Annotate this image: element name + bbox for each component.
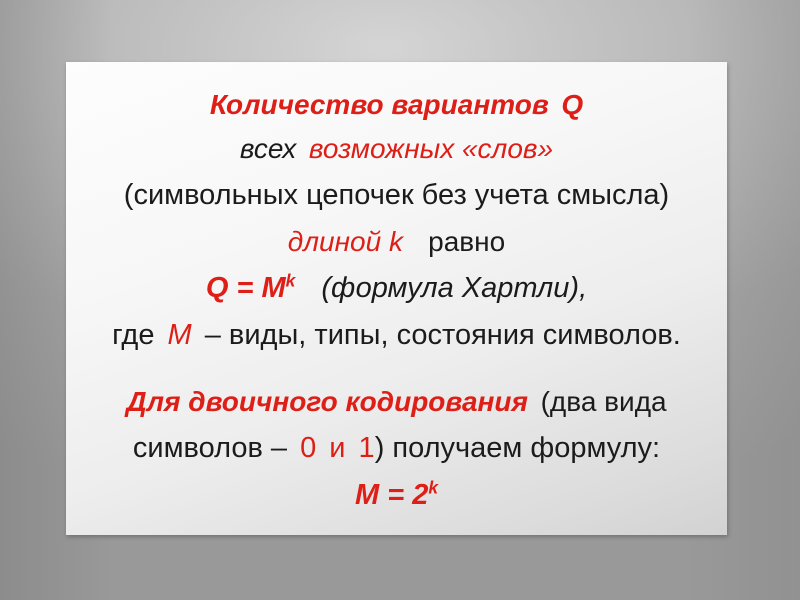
text-line-5-formula: Q = Mk(формула Хартли), bbox=[80, 274, 713, 303]
text-line-6: гдеM– виды, типы, состояния символов. bbox=[80, 321, 713, 350]
line6-symbol-m: M bbox=[168, 319, 192, 351]
binary-formula-exponent: k bbox=[428, 477, 438, 497]
text-line-4: длиной kравно bbox=[80, 228, 713, 256]
line7-black-phrase: (два вида bbox=[541, 386, 667, 417]
line1-red-phrase: Количество вариантов bbox=[210, 89, 549, 120]
text-line-2: всехвозможных «слов» bbox=[80, 135, 713, 163]
line2-red-phrase: возможных «слов» bbox=[309, 133, 553, 164]
hartley-formula: Q = M bbox=[206, 272, 286, 304]
binary-formula: M = 2 bbox=[355, 479, 428, 511]
line1-symbol-q: Q bbox=[561, 89, 583, 120]
line4-black-phrase: равно bbox=[428, 226, 505, 257]
line8-black-suffix: ) получаем формулу: bbox=[375, 432, 660, 464]
slide-text-block: Количество вариантовQ всехвозможных «сло… bbox=[66, 62, 727, 510]
text-line-8: символов –0и1) получаем формулу: bbox=[80, 434, 713, 463]
line7-red-phrase: Для двоичного кодирования bbox=[126, 386, 528, 417]
text-line-3: (символьных цепочек без учета смысла) bbox=[80, 181, 713, 210]
presentation-slide: Количество вариантовQ всехвозможных «сло… bbox=[0, 0, 800, 600]
line6-black-suffix: – виды, типы, состояния символов. bbox=[205, 319, 681, 351]
line8-conjunction: и bbox=[329, 432, 345, 464]
line8-black-prefix: символов – bbox=[133, 432, 287, 464]
text-line-7: Для двоичного кодирования(два вида bbox=[80, 388, 713, 416]
line8-digit-zero: 0 bbox=[300, 432, 316, 464]
line8-digit-one: 1 bbox=[359, 432, 375, 464]
line2-black-phrase: всех bbox=[240, 133, 296, 164]
line5-black-phrase: (формула Хартли), bbox=[321, 272, 587, 304]
text-line-1: Количество вариантовQ bbox=[80, 91, 713, 119]
line4-red-phrase: длиной k bbox=[288, 226, 403, 257]
text-line-9-formula: M = 2k bbox=[80, 481, 713, 510]
content-card: Количество вариантовQ всехвозможных «сло… bbox=[66, 62, 727, 535]
line6-black-prefix: где bbox=[112, 319, 154, 351]
hartley-formula-exponent: k bbox=[286, 270, 296, 290]
line3-black-phrase: (символьных цепочек без учета смысла) bbox=[124, 179, 669, 211]
